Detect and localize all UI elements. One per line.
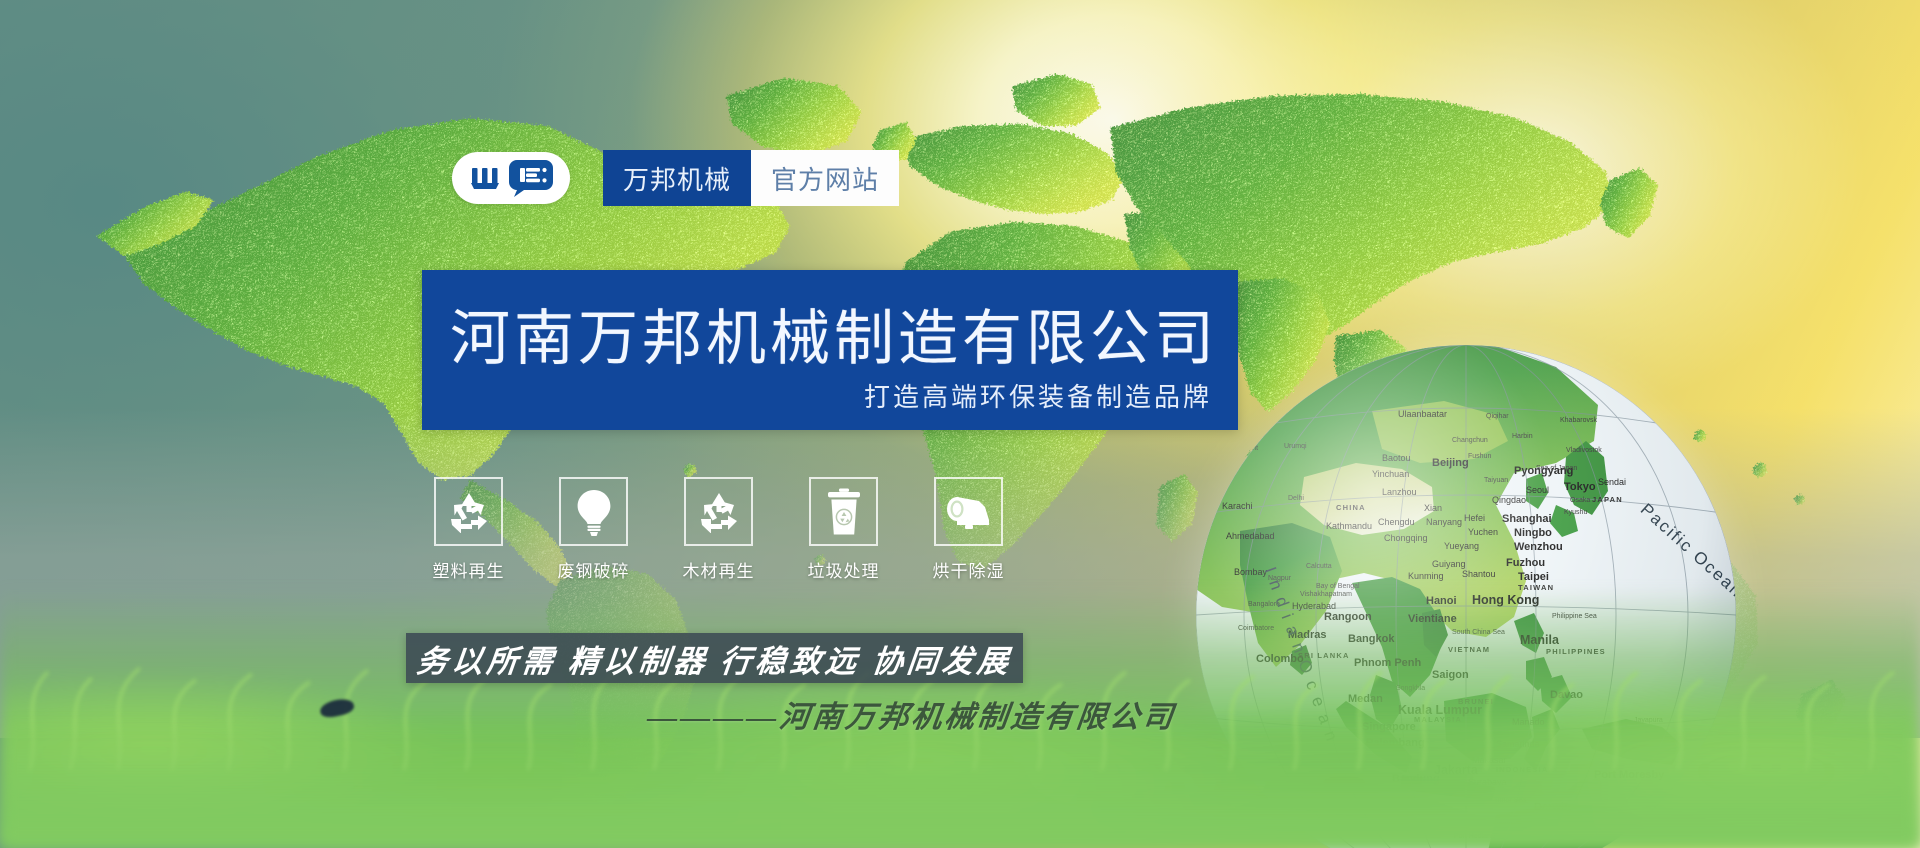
globe-city-label: Hefei [1464, 513, 1485, 523]
globe-city-label: Ahmedabad [1226, 531, 1275, 541]
globe-city-label: Qingdao [1492, 495, 1526, 505]
globe-city-label: Fuzhou [1506, 557, 1545, 569]
dryer-blower-icon [945, 494, 993, 530]
feature-scrap-steel-crushing[interactable]: 废钢破碎 [545, 477, 642, 582]
feature-icon-box [434, 477, 503, 546]
feature-label: 垃圾处理 [808, 557, 880, 582]
globe-city-label: Delhi [1288, 495, 1304, 502]
globe-city-label: Sea of Japan [1536, 465, 1577, 472]
globe-city-label: Yueyang [1444, 541, 1479, 551]
feature-icon-box [809, 477, 878, 546]
globe-city-label: Guiyang [1432, 559, 1466, 569]
globe-city-label: Kabul [1210, 471, 1228, 478]
globe-city-label: Shantou [1462, 569, 1496, 579]
trash-bin-icon [826, 488, 862, 536]
feature-icon-box [684, 477, 753, 546]
globe-city-label: Beijing [1432, 457, 1469, 469]
globe-city-label: Xian [1424, 503, 1442, 513]
globe-city-label: Kathmandu [1326, 521, 1372, 531]
feature-label: 木材再生 [683, 557, 755, 582]
globe-city-label: Fushun [1468, 453, 1491, 460]
globe-city-label: Wenzhou [1514, 541, 1563, 553]
logo-b-bubble-icon [508, 158, 554, 198]
slogan-signature: ————河南万邦机械制造有限公司 [645, 692, 1178, 736]
hero-title-panel: 河南万邦机械制造有限公司 打造高端环保装备制造品牌 [422, 270, 1238, 430]
globe-city-label: Calcutta [1306, 563, 1332, 570]
lightbulb-icon [575, 488, 613, 536]
feature-icon-box [934, 477, 1003, 546]
feature-label: 塑料再生 [433, 557, 505, 582]
feature-label: 烘干除湿 [933, 557, 1005, 582]
globe-city-label: Yuchen [1468, 527, 1498, 537]
globe-city-label: CHINA [1336, 503, 1366, 512]
slogan-text: 务以所需 精以制器 行稳致远 协同发展 [415, 636, 1015, 681]
globe-city-label: Sendai [1598, 477, 1626, 487]
globe-city-label: JAPAN [1592, 495, 1623, 504]
globe-city-label: Harbin [1512, 433, 1533, 440]
globe-city-label: Chengdu [1378, 517, 1415, 527]
globe-city-label: Taipei [1518, 571, 1549, 583]
globe-city-label: Lanzhou [1382, 487, 1417, 497]
globe-city-label: Vladivostok [1566, 447, 1602, 454]
globe-city-label: Qiqihar [1486, 413, 1509, 420]
globe-city-label: Osaka [1570, 497, 1590, 504]
slogan-bar: 务以所需 精以制器 行稳致远 协同发展 [406, 633, 1023, 683]
globe-city-label: Seoul [1526, 485, 1549, 495]
globe-city-label: Baotou [1382, 453, 1411, 463]
grass-depth [0, 728, 1920, 848]
globe-city-label: Urumqi [1284, 443, 1307, 450]
hero-banner: UlaanbaatarQiqiharHarbinChangchunFushunB… [0, 0, 1920, 848]
globe-city-label: Kyushu [1564, 509, 1587, 516]
tab-wanbang-jixie[interactable]: 万邦机械 [603, 150, 751, 206]
recycle-icon [447, 491, 491, 533]
globe-city-label: Khabarovsk [1560, 417, 1597, 424]
feature-icon-row: 塑料再生 废钢破碎 [420, 477, 1017, 582]
feature-drying-dehumidifying[interactable]: 烘干除湿 [920, 477, 1017, 582]
globe-city-label: Kunming [1408, 571, 1444, 581]
globe-city-label: Tokyo [1564, 481, 1596, 493]
feature-label: 废钢破碎 [558, 557, 630, 582]
globe-city-label: Shanghai [1502, 513, 1552, 525]
page-subtitle: 打造高端环保装备制造品牌 [864, 377, 1212, 414]
logo-w-icon [469, 163, 503, 193]
globe-city-label: Chongqing [1384, 533, 1428, 543]
feature-plastic-recycling[interactable]: 塑料再生 [420, 477, 517, 582]
globe-city-label: Changchun [1452, 437, 1488, 444]
globe-city-label: Karachi [1222, 501, 1253, 511]
feature-wood-recycling[interactable]: 木材再生 [670, 477, 767, 582]
globe-city-label: Tashkent [1230, 445, 1258, 452]
globe-city-label: Nanyang [1426, 517, 1462, 527]
page-title: 河南万邦机械制造有限公司 [450, 290, 1218, 377]
tab-official-site[interactable]: 官方网站 [751, 150, 899, 206]
brand-header: 万邦机械 官方网站 [452, 150, 899, 206]
globe-city-label: Yinchuan [1372, 469, 1409, 479]
wanbang-logo[interactable] [452, 152, 570, 204]
globe-city-label: Taiyuan [1484, 477, 1508, 484]
recycle-icon [697, 491, 741, 533]
feature-icon-box [559, 477, 628, 546]
globe-city-label: Ningbo [1514, 527, 1552, 539]
nav-tabs: 万邦机械 官方网站 [603, 150, 899, 206]
globe-city-label: Ulaanbaatar [1398, 409, 1447, 419]
feature-waste-treatment[interactable]: 垃圾处理 [795, 477, 892, 582]
